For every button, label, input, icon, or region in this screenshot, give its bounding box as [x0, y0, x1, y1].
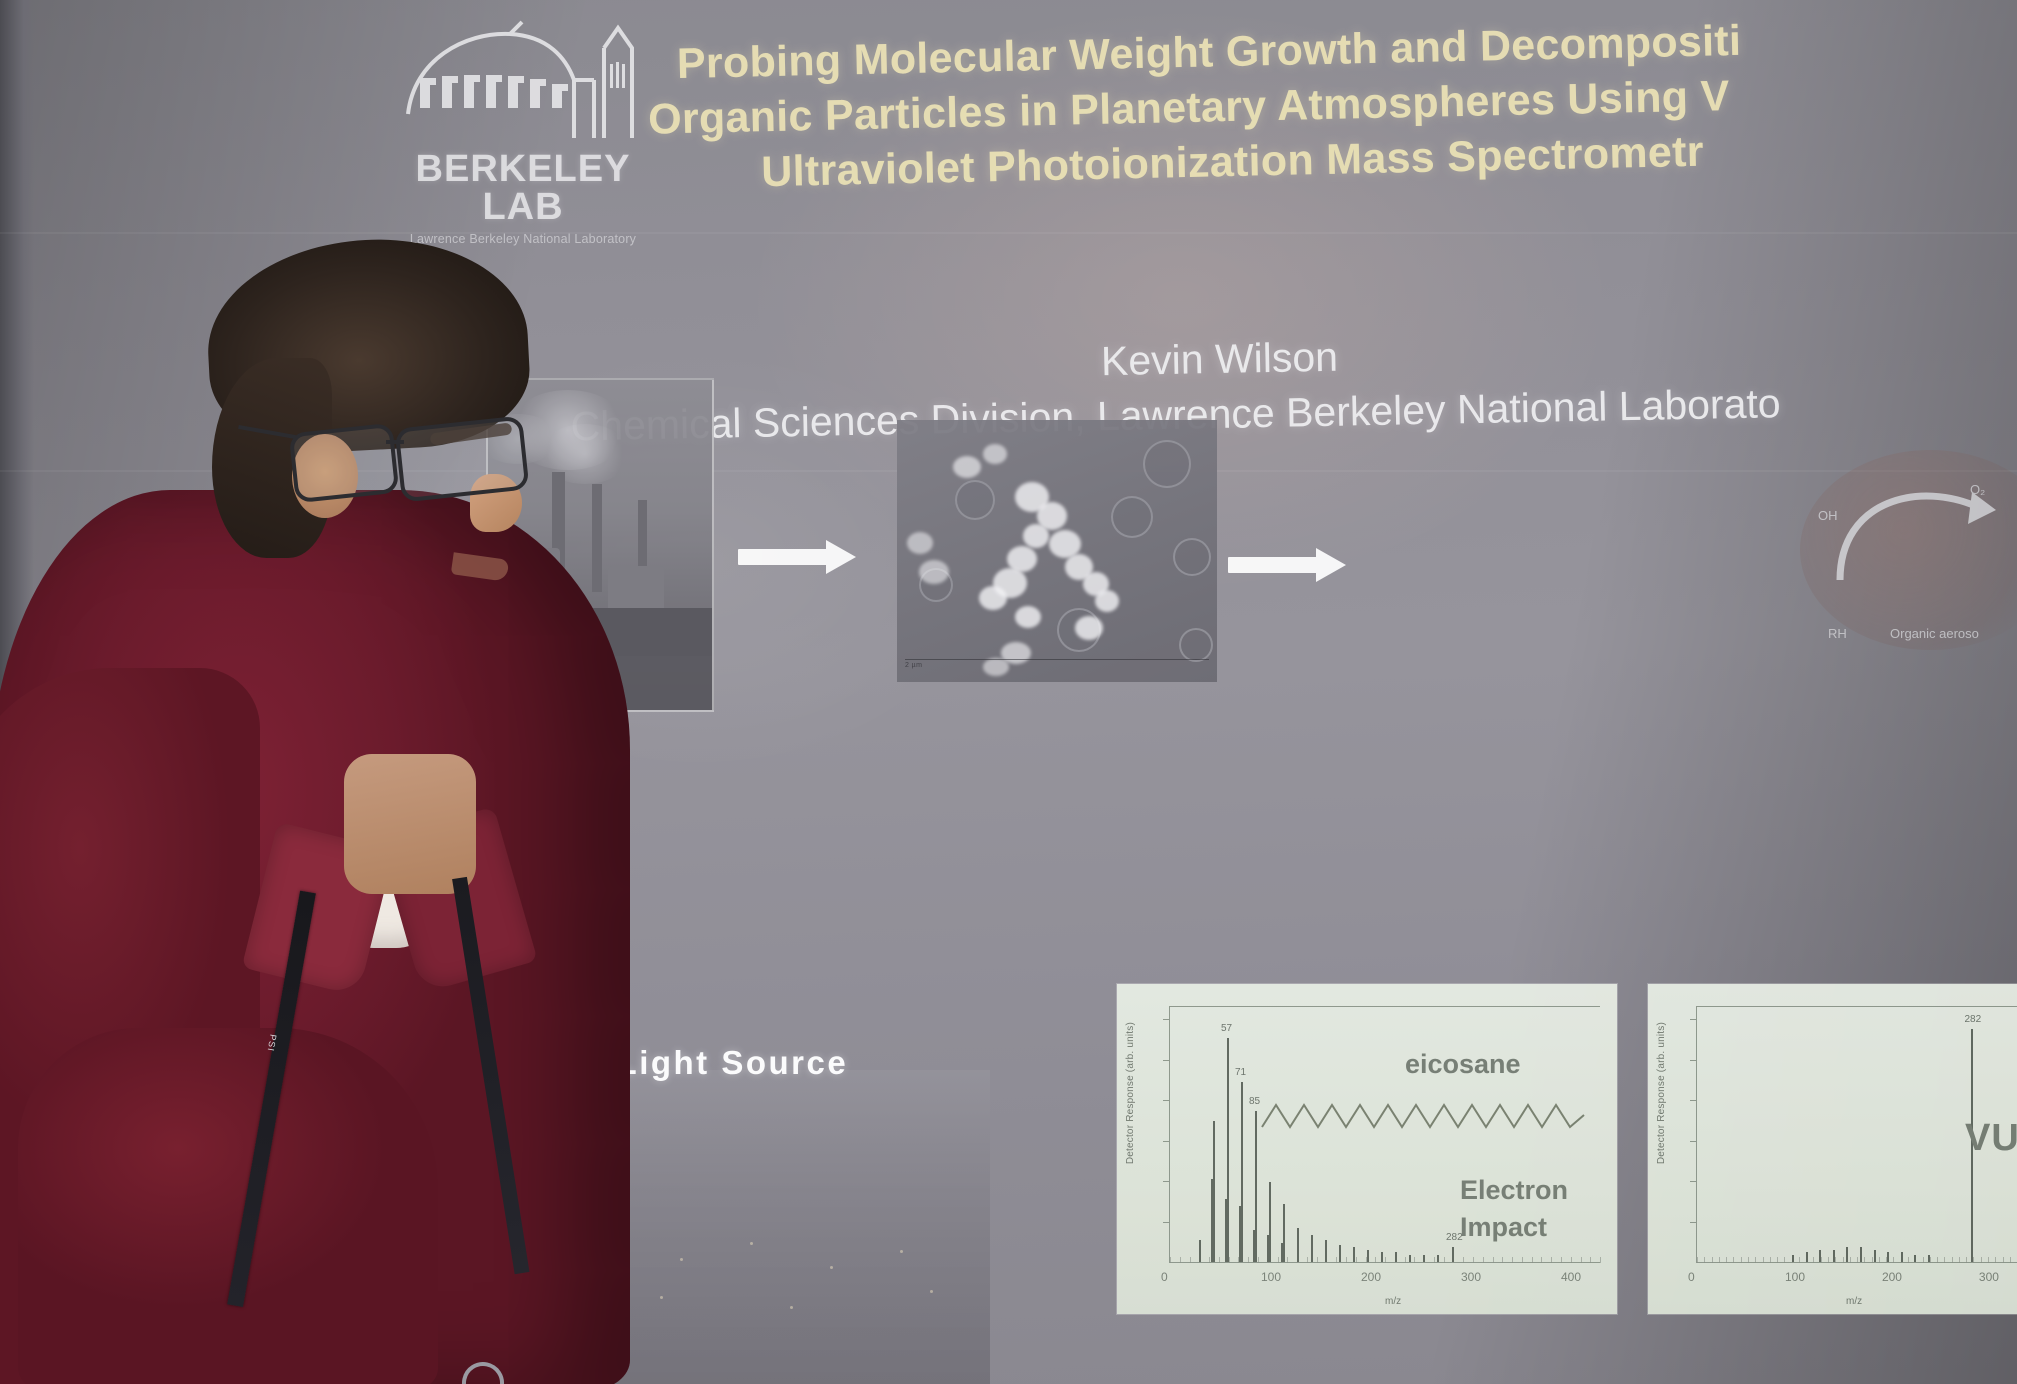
spectrum-peak [1297, 1228, 1299, 1262]
axis-minor-tick [1828, 1257, 1829, 1263]
axis-minor-tick [1981, 1257, 1982, 1263]
cycle-arrow-icon [1800, 430, 2017, 680]
spectrum-peak [1833, 1250, 1835, 1262]
axis-minor-tick [1755, 1257, 1756, 1263]
speaker-arm [18, 1028, 438, 1384]
axis-minor-tick [1219, 1257, 1220, 1263]
axis-minor-tick [1278, 1257, 1279, 1263]
berkeley-lab-logo: BERKELEY LAB Lawrence Berkeley National … [398, 18, 648, 208]
axis-minor-tick [1532, 1257, 1533, 1263]
cycle-label-target: Organic aeroso [1890, 626, 1979, 641]
axis-minor-tick [1973, 1257, 1974, 1263]
x-axis-tick-label: 0 [1161, 1270, 1168, 1284]
logo-wordmark: BERKELEY LAB [398, 150, 648, 226]
spectrum-peak [1437, 1255, 1439, 1262]
axis-minor-tick [1551, 1257, 1552, 1263]
axis-minor-tick [1317, 1257, 1318, 1263]
axis-minor-tick [1966, 1257, 1967, 1263]
axis-minor-tick [1258, 1257, 1259, 1263]
spectrum-peak [1792, 1255, 1794, 1262]
axis-minor-tick [1784, 1257, 1785, 1263]
spectrum-peak [1353, 1247, 1355, 1262]
y-axis-tick [1690, 1222, 1697, 1223]
axis-minor-tick [1763, 1257, 1764, 1263]
axis-minor-tick [1483, 1257, 1484, 1263]
spectrum-peak [1213, 1121, 1215, 1262]
spectrum-peak [1806, 1252, 1808, 1262]
axis-minor-tick [1336, 1257, 1337, 1263]
axis-minor-tick [1590, 1257, 1591, 1263]
axis-minor-tick [1307, 1257, 1308, 1263]
spectrum-peak-label: 282 [1964, 1014, 1981, 1025]
left-chart-ylabel: Detector Response (arb. units) [1125, 1022, 1136, 1164]
axis-minor-tick [1850, 1257, 1851, 1263]
left-chart-plot-area: 577185282 eicosane Electron Impact [1169, 1006, 1600, 1263]
axis-minor-tick [1712, 1257, 1713, 1263]
spectrum-peak-label: 57 [1221, 1023, 1232, 1034]
y-axis-tick [1690, 1100, 1697, 1101]
spectrum-peak [1311, 1235, 1313, 1262]
axis-minor-tick [1463, 1257, 1464, 1263]
axis-minor-tick [1748, 1257, 1749, 1263]
axis-minor-tick [1697, 1257, 1698, 1263]
axis-minor-tick [1988, 1257, 1989, 1263]
x-axis-tick-label: 100 [1261, 1270, 1281, 1284]
axis-minor-tick [1959, 1257, 1960, 1263]
sem-scale-label: 2 µm [905, 662, 1209, 669]
axis-minor-tick [1581, 1257, 1582, 1263]
spectrum-peak [1423, 1255, 1425, 1262]
axis-minor-tick [1995, 1257, 1996, 1263]
sem-micrograph: 2 µm [897, 420, 1217, 682]
spectrum-peak [1452, 1247, 1454, 1262]
cycle-label-reactant: RH [1828, 626, 1847, 641]
axis-minor-tick [1923, 1257, 1924, 1263]
axis-minor-tick [1719, 1257, 1720, 1263]
cycle-label-oxidant: OH [1818, 508, 1838, 523]
axis-minor-tick [1835, 1257, 1836, 1263]
spectrum-peak [1367, 1250, 1369, 1262]
spectrum-peak [1914, 1255, 1916, 1262]
axis-minor-tick [1872, 1257, 1873, 1263]
berkeley-lab-dome-icon [398, 18, 648, 150]
y-axis-tick [1690, 1019, 1697, 1020]
y-axis-tick [1163, 1181, 1170, 1182]
left-chart-minor-ticks [1170, 1256, 1600, 1263]
axis-minor-tick [1857, 1257, 1858, 1263]
spectrum-peak [1395, 1252, 1397, 1262]
y-axis-tick [1163, 1141, 1170, 1142]
axis-minor-tick [1414, 1257, 1415, 1263]
axis-minor-tick [1777, 1257, 1778, 1263]
axis-minor-tick [1209, 1257, 1210, 1263]
spectrum-peak [1860, 1247, 1862, 1262]
y-axis-tick [1690, 1181, 1697, 1182]
left-chart-title: eicosane [1405, 1049, 1521, 1080]
x-axis-tick-label: 300 [1461, 1270, 1481, 1284]
axis-minor-tick [1944, 1257, 1945, 1263]
axis-minor-tick [2010, 1257, 2011, 1263]
spectrum-peak [1409, 1255, 1411, 1262]
left-chart-xlabel: m/z [1385, 1296, 1401, 1307]
lanyard-text: PSI [266, 1034, 279, 1053]
spectrum-peak [1887, 1252, 1889, 1262]
spectrum-peak-label: 85 [1249, 1096, 1260, 1107]
slide-title: Probing Molecular Weight Growth and Deco… [628, 6, 2017, 203]
axis-minor-tick [1937, 1257, 1938, 1263]
axis-minor-tick [1522, 1257, 1523, 1263]
axis-minor-tick [1434, 1257, 1435, 1263]
x-axis-tick-label: 300 [1979, 1270, 1999, 1284]
axis-minor-tick [1704, 1257, 1705, 1263]
reaction-cycle-diagram: O₂ OH RH Organic aeroso [1800, 430, 2017, 680]
y-axis-tick [1163, 1100, 1170, 1101]
axis-minor-tick [1893, 1257, 1894, 1263]
y-axis-tick [1690, 1141, 1697, 1142]
axis-minor-tick [1346, 1257, 1347, 1263]
left-chart-annotation-line-1: Electron [1460, 1175, 1568, 1206]
y-axis-tick [1163, 1019, 1170, 1020]
right-chart-xlabel: m/z [1846, 1296, 1862, 1307]
spectrum-peak [1241, 1082, 1243, 1262]
axis-minor-tick [1356, 1257, 1357, 1263]
axis-minor-tick [1287, 1257, 1288, 1263]
axis-minor-tick [1908, 1257, 1909, 1263]
spectrum-peak [1846, 1247, 1848, 1262]
spectrum-peak [1255, 1111, 1257, 1262]
axis-minor-tick [1930, 1257, 1931, 1263]
left-chart-annotation-line-2: Impact [1460, 1212, 1547, 1243]
y-axis-tick [1163, 1222, 1170, 1223]
flow-arrow-1 [738, 540, 856, 574]
axis-minor-tick [1385, 1257, 1386, 1263]
right-chart-plot-area: 282 VUV [1696, 1006, 2017, 1263]
flow-arrow-2 [1228, 548, 1346, 582]
right-chart-annotation: VUV [1965, 1117, 2017, 1160]
axis-minor-tick [1879, 1257, 1880, 1263]
axis-minor-tick [1405, 1257, 1406, 1263]
axis-minor-tick [1813, 1257, 1814, 1263]
spectrum-peak [1381, 1252, 1383, 1262]
axis-minor-tick [1561, 1257, 1562, 1263]
axis-minor-tick [1493, 1257, 1494, 1263]
spectrum-peak [1928, 1255, 1930, 1262]
axis-minor-tick [1741, 1257, 1742, 1263]
mass-spectrum-panel-vuv: Detector Response (arb. units) 282 VUV 0… [1648, 984, 2017, 1314]
axis-minor-tick [1180, 1257, 1181, 1263]
y-axis-tick [1163, 1060, 1170, 1061]
cycle-label-product: O₂ [1970, 482, 1985, 497]
slide-author-block: Kevin Wilson Chemical Sciences Division,… [559, 315, 2017, 453]
axis-minor-tick [1733, 1257, 1734, 1263]
axis-minor-tick [1571, 1257, 1572, 1263]
axis-minor-tick [1375, 1257, 1376, 1263]
axis-minor-tick [1190, 1257, 1191, 1263]
x-axis-tick-label: 200 [1361, 1270, 1381, 1284]
mass-spectrum-panel-electron-impact: Detector Response (arb. units) 577185282… [1117, 984, 1617, 1314]
axis-minor-tick [1248, 1257, 1249, 1263]
spectrum-peak [1325, 1240, 1327, 1262]
x-axis-tick-label: 400 [1561, 1270, 1581, 1284]
spectrum-peak [1819, 1250, 1821, 1262]
right-chart-ylabel: Detector Response (arb. units) [1656, 1022, 1667, 1164]
spectrum-peak-label: 71 [1235, 1067, 1246, 1078]
spectrum-peak [1901, 1252, 1903, 1262]
axis-minor-tick [1864, 1257, 1865, 1263]
axis-minor-tick [2003, 1257, 2004, 1263]
spectrum-peak [1283, 1204, 1285, 1262]
y-axis-tick [1690, 1060, 1697, 1061]
spectrum-peak [1339, 1245, 1341, 1262]
axis-minor-tick [1843, 1257, 1844, 1263]
axis-minor-tick [1600, 1257, 1601, 1263]
axis-minor-tick [1170, 1257, 1171, 1263]
speaker-person: PSI INTERNATIONAL FORUM WILSON Lawrence … [0, 238, 700, 1384]
spectrum-peak [1227, 1038, 1229, 1262]
axis-minor-tick [1952, 1257, 1953, 1263]
axis-minor-tick [1473, 1257, 1474, 1263]
spectrum-peak [1874, 1250, 1876, 1262]
axis-minor-tick [1502, 1257, 1503, 1263]
x-axis-tick-label: 0 [1688, 1270, 1695, 1284]
x-axis-tick-label: 200 [1882, 1270, 1902, 1284]
axis-minor-tick [1541, 1257, 1542, 1263]
axis-minor-tick [1770, 1257, 1771, 1263]
spectrum-peak [1269, 1182, 1271, 1262]
axis-minor-tick [1512, 1257, 1513, 1263]
axis-minor-tick [1726, 1257, 1727, 1263]
eyeglasses-icon [286, 406, 536, 506]
right-chart-minor-ticks [1697, 1256, 2017, 1263]
spectrum-peak [1199, 1240, 1201, 1262]
axis-minor-tick [1799, 1257, 1800, 1263]
eicosane-structure-icon [1260, 1093, 1590, 1139]
x-axis-tick-label: 100 [1785, 1270, 1805, 1284]
screenshot-root: BERKELEY LAB Lawrence Berkeley National … [0, 0, 2017, 1384]
sem-scale-bar: 2 µm [905, 659, 1209, 676]
speaker-neck [344, 754, 476, 894]
axis-minor-tick [1444, 1257, 1445, 1263]
